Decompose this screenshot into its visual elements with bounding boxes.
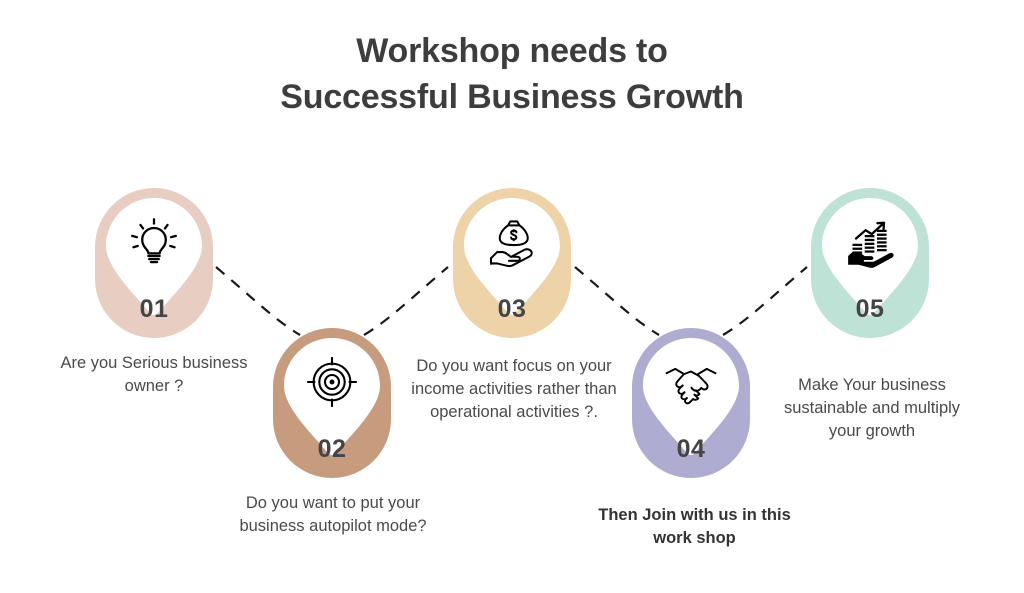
hand-holding-money-bag-icon	[484, 214, 540, 270]
target-bullseye-icon	[304, 354, 360, 410]
step-number-01: 01	[95, 295, 213, 324]
step-capsule-03: 03	[453, 188, 571, 338]
step-number-05: 05	[811, 295, 929, 324]
step-caption-03: Do you want focus on your income activit…	[398, 355, 630, 423]
page-title-line-2: Successful Business Growth	[0, 74, 1024, 120]
connector-3-4	[575, 267, 659, 335]
step-marker-05[interactable]: 05	[811, 188, 929, 338]
connector-1-2	[216, 267, 300, 335]
infographic-root: Workshop needs to Successful Business Gr…	[0, 0, 1024, 593]
handshake-icon	[663, 354, 719, 410]
step-caption-04: Then Join with us in this work shop	[582, 504, 807, 550]
step-caption-02: Do you want to put your business autopil…	[212, 492, 454, 538]
step-marker-02[interactable]: 02	[273, 328, 391, 478]
step-number-02: 02	[273, 435, 391, 464]
step-marker-03[interactable]: 03	[453, 188, 571, 338]
page-title: Workshop needs to Successful Business Gr…	[0, 28, 1024, 120]
step-marker-01[interactable]: 01	[95, 188, 213, 338]
connector-4-5	[723, 267, 807, 335]
step-capsule-04: 04	[632, 328, 750, 478]
step-caption-05: Make Your business sustainable and multi…	[766, 374, 978, 442]
step-capsule-05: 05	[811, 188, 929, 338]
step-marker-04[interactable]: 04	[632, 328, 750, 478]
step-caption-01: Are you Serious business owner ?	[54, 352, 254, 398]
step-capsule-01: 01	[95, 188, 213, 338]
lightbulb-icon	[126, 214, 182, 270]
page-title-line-1: Workshop needs to	[0, 28, 1024, 74]
step-number-03: 03	[453, 295, 571, 324]
connector-2-3	[364, 267, 448, 335]
hand-holding-growth-chart-icon	[842, 214, 898, 270]
step-number-04: 04	[632, 435, 750, 464]
step-capsule-02: 02	[273, 328, 391, 478]
